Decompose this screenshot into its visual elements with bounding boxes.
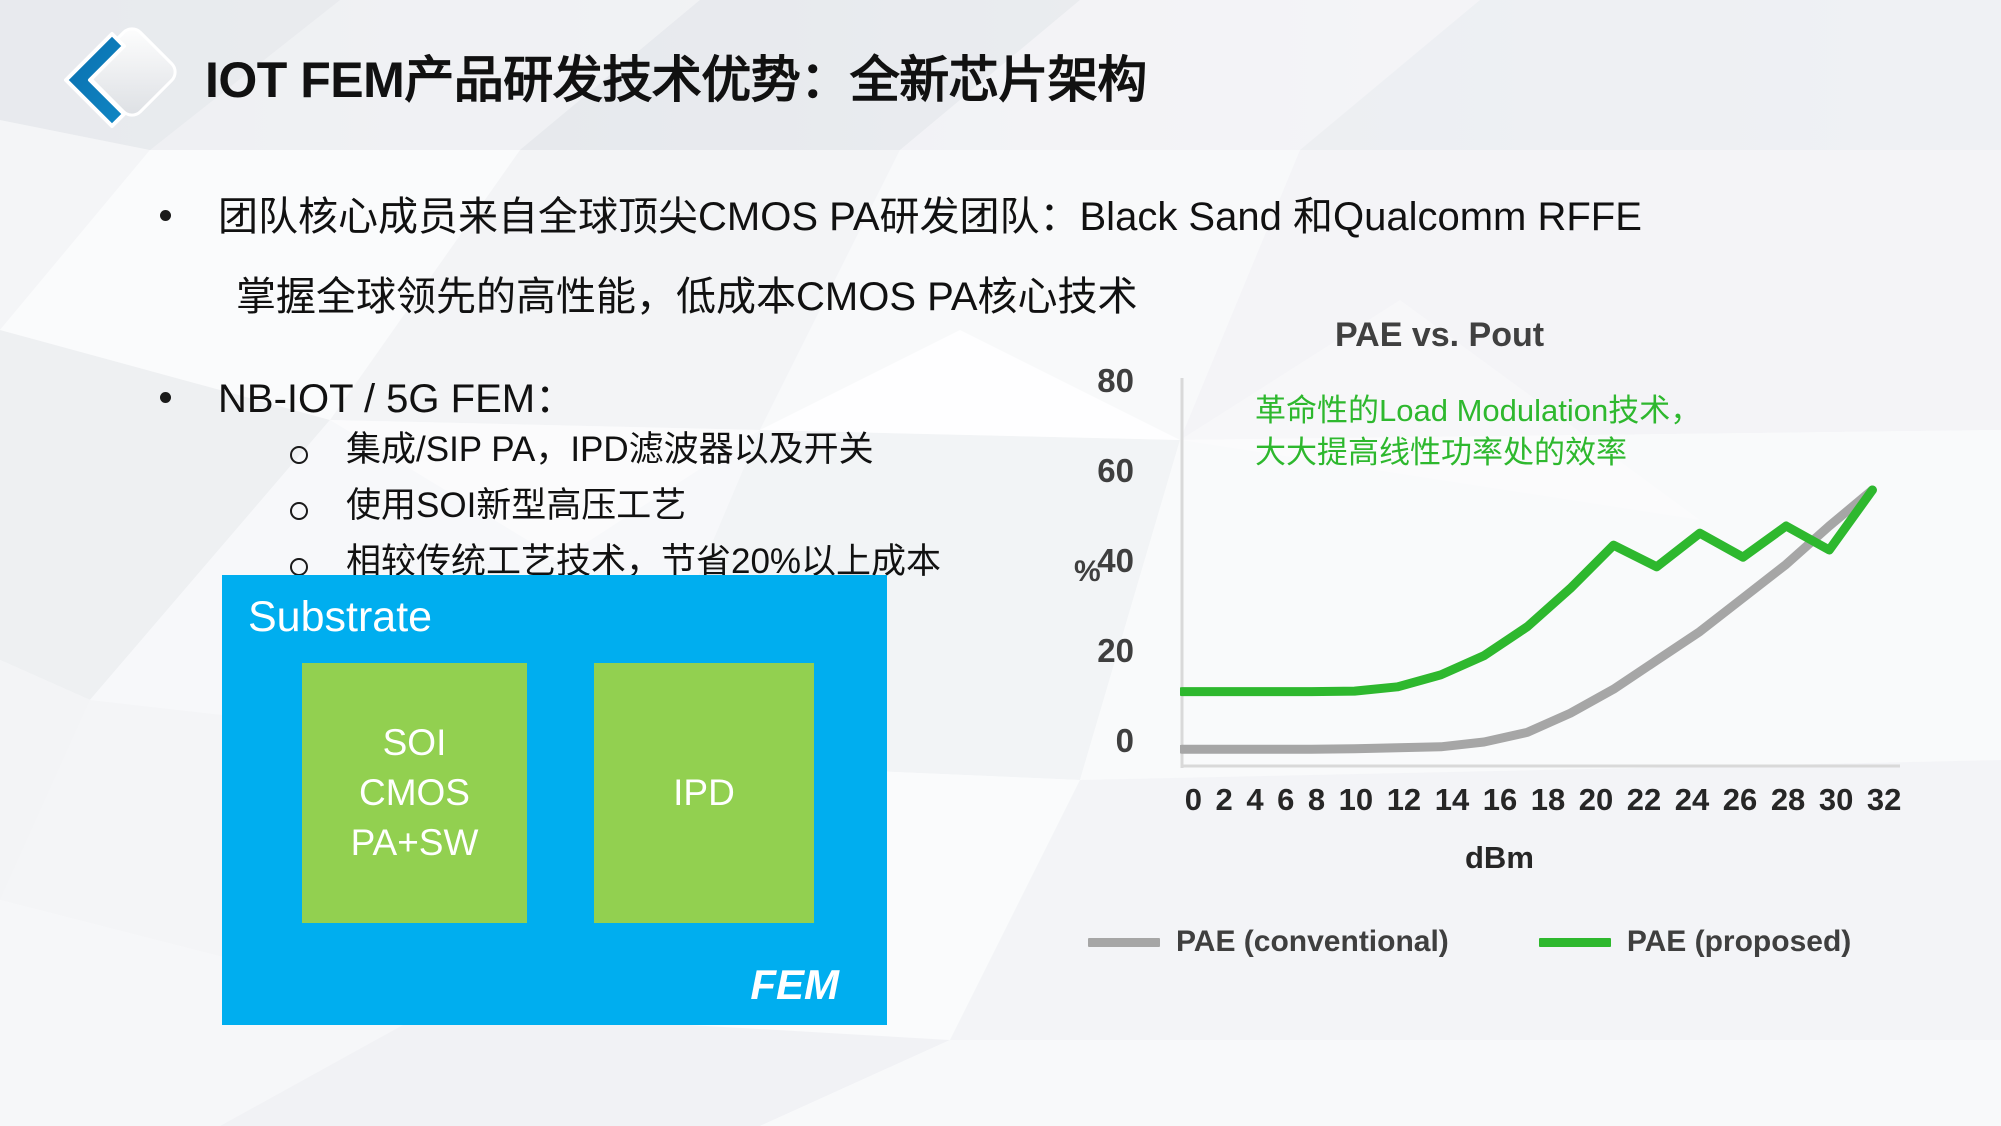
chart-plot-area [1180,378,1900,768]
chart-xtick-18: 18 [1524,782,1572,818]
bullet-2-line-1: NB-IOT / 5G FEM： [218,370,575,428]
chart-series-proposed [1182,490,1872,692]
chart-xtick-8: 8 [1301,782,1332,818]
chart-xtick-2: 2 [1209,782,1240,818]
page-title: IOT FEM产品研发技术优势：全新芯片架构 [205,40,1147,112]
circle-bullet-icon [290,502,308,520]
legend-item-proposed: PAE (proposed) [1539,925,1851,959]
sub-bullet-label: 集成/SIP PA，IPD滤波器以及开关 [346,428,874,472]
chart-xtick-26: 26 [1716,782,1764,818]
block-soi-cmos-pa-sw: SOI CMOS PA+SW [302,663,527,923]
bullet-1-line-1: 团队核心成员来自全球顶尖CMOS PA研发团队：Black Sand 和Qual… [218,188,1642,246]
chart-xtick-10: 10 [1332,782,1380,818]
legend-swatch-conventional [1088,938,1160,947]
list-item: 使用SOI新型高压工艺 [290,484,941,528]
chart-ytick-0: 0 [1074,722,1134,760]
chart-title: PAE vs. Pout [1335,316,1544,355]
chart-xtick-6: 6 [1270,782,1301,818]
chart-xtick-28: 28 [1764,782,1812,818]
circle-bullet-icon [290,446,308,464]
circle-bullet-icon [290,558,308,576]
chart-xtick-12: 12 [1380,782,1428,818]
fem-block-diagram: Substrate SOI CMOS PA+SW IPD FEM [222,575,887,1025]
legend-label-proposed: PAE (proposed) [1627,925,1851,959]
bullet-item-2: NB-IOT / 5G FEM： [160,370,575,428]
list-item: 集成/SIP PA，IPD滤波器以及开关 [290,428,941,472]
sub-bullet-list: 集成/SIP PA，IPD滤波器以及开关 使用SOI新型高压工艺 相较传统工艺技… [290,428,941,595]
fem-label: FEM [750,961,839,1009]
bullet-item-1: 团队核心成员来自全球顶尖CMOS PA研发团队：Black Sand 和Qual… [160,188,1642,246]
chart-series-conventional [1182,490,1872,749]
chart-xtick-labels: 02468101214161820222426283032 [1178,782,1908,818]
chart-xtick-16: 16 [1476,782,1524,818]
chart-xtick-24: 24 [1668,782,1716,818]
chart-xtick-22: 22 [1620,782,1668,818]
chart-xtick-30: 30 [1812,782,1860,818]
chart-xtick-14: 14 [1428,782,1476,818]
chart-xtick-20: 20 [1572,782,1620,818]
chart-xtick-0: 0 [1178,782,1209,818]
legend-item-conventional: PAE (conventional) [1088,925,1449,959]
chart-xtick-32: 32 [1860,782,1908,818]
chart-ytick-40: 40 [1074,542,1134,580]
chevron-diamond-logo [52,24,182,136]
chart-xlabel: dBm [1465,840,1534,876]
bullet-dot-icon [160,210,171,221]
bullet-dot-icon [160,392,171,403]
pae-vs-pout-chart: PAE vs. Pout 革命性的Load Modulation技术， 大大提高… [1060,330,1960,1070]
chart-xtick-4: 4 [1240,782,1271,818]
block-ipd: IPD [594,663,814,923]
sub-bullet-label: 使用SOI新型高压工艺 [346,484,686,528]
bullet-1-line-2: 掌握全球领先的高性能，低成本CMOS PA核心技术 [236,264,1138,322]
chart-ytick-80: 80 [1074,362,1134,400]
block-soi-cmos-pa-sw-label: SOI CMOS PA+SW [351,718,479,868]
legend-label-conventional: PAE (conventional) [1176,925,1449,959]
legend-swatch-proposed [1539,938,1611,947]
chart-ytick-60: 60 [1074,452,1134,490]
chart-legend: PAE (conventional) PAE (proposed) [1088,925,1938,959]
block-ipd-label: IPD [673,772,735,814]
chart-ytick-20: 20 [1074,632,1134,670]
substrate-label: Substrate [248,593,432,642]
